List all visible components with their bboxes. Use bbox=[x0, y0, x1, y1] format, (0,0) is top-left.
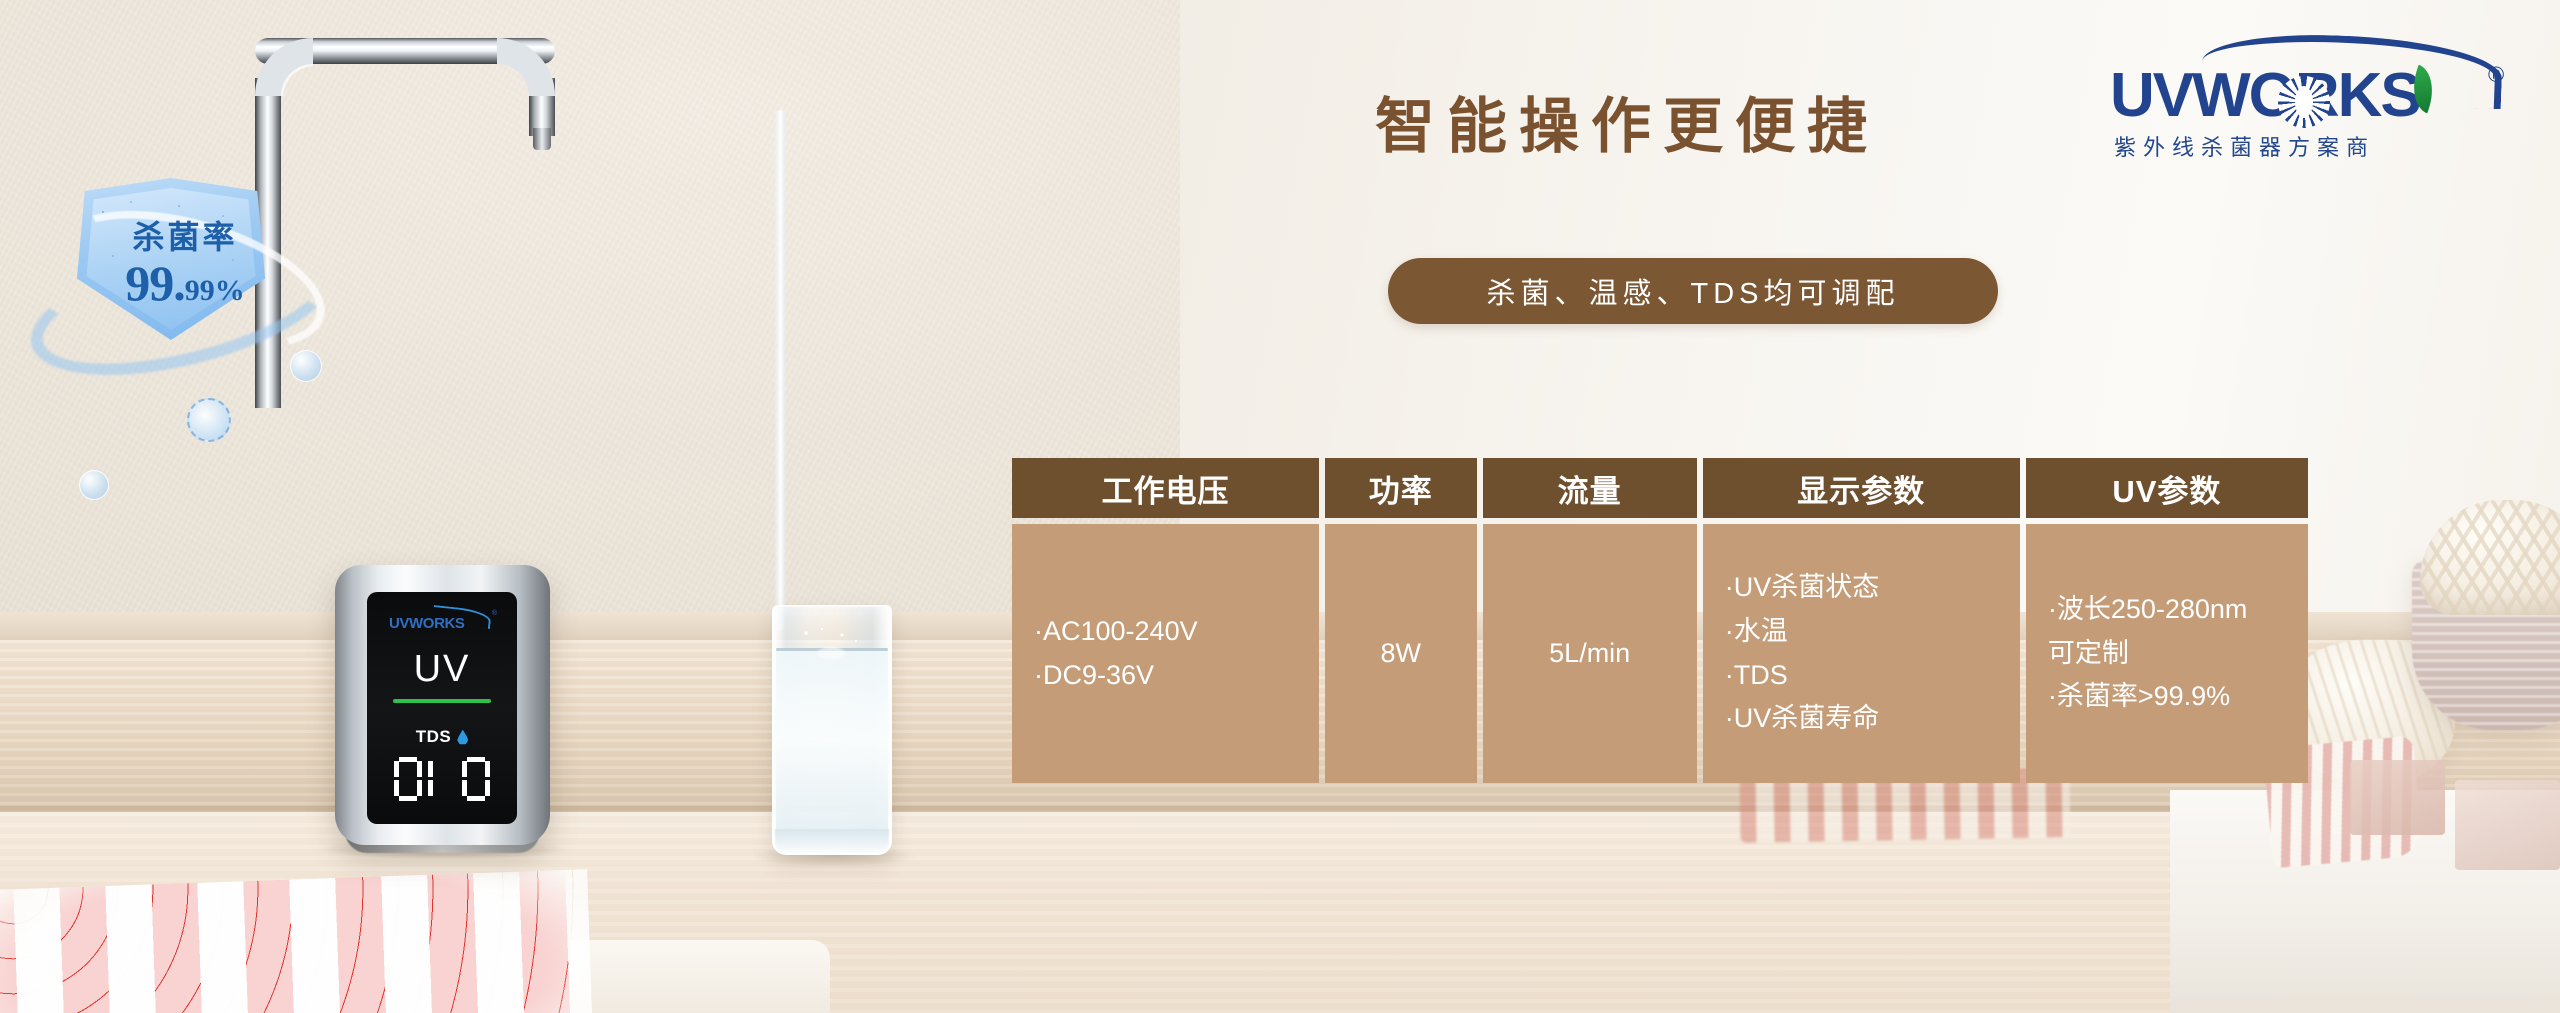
device-status-bar bbox=[393, 699, 491, 703]
registered-mark: ® bbox=[2488, 62, 2504, 88]
spec-line: ·AC100-240V bbox=[1034, 610, 1198, 654]
device-logo: UVWORKS ® bbox=[389, 610, 495, 632]
spec-header: UV参数 bbox=[2026, 458, 2308, 518]
spec-header: 显示参数 bbox=[1703, 458, 2020, 518]
badge-value-decimal: 99% bbox=[185, 274, 245, 307]
spec-header: 功率 bbox=[1325, 458, 1477, 518]
spec-cell: ·波长250-280nm 可定制 ·杀菌率>99.9% bbox=[2026, 524, 2308, 783]
spec-line: ·TDS bbox=[1725, 654, 1788, 698]
germ-icon bbox=[187, 398, 231, 442]
brand-tagline: 紫外线杀菌器方案商 bbox=[2114, 130, 2375, 162]
device-logo-registered: ® bbox=[492, 610, 497, 617]
spec-line: 8W bbox=[1381, 632, 1422, 676]
faucet-spout bbox=[533, 128, 551, 150]
seven-segment-digit bbox=[428, 757, 456, 801]
bubble-icon bbox=[290, 350, 322, 382]
spec-column-display: 显示参数 ·UV杀菌状态 ·水温 ·TDS ·UV杀菌寿命 bbox=[1703, 458, 2020, 783]
spec-column-uv: UV参数 ·波长250-280nm 可定制 ·杀菌率>99.9% bbox=[2026, 458, 2308, 783]
decor-block-2 bbox=[2455, 780, 2560, 870]
spec-table: 工作电压 ·AC100-240V ·DC9-36V 功率 8W 流量 5L/mi… bbox=[1012, 458, 2308, 783]
badge-title: 杀菌率 bbox=[35, 212, 335, 258]
bubble-icon bbox=[79, 470, 109, 500]
device-logo-text: UVWORKS bbox=[389, 615, 465, 632]
water-stream bbox=[774, 110, 787, 630]
spec-line: 5L/min bbox=[1549, 632, 1630, 676]
spec-cell: 5L/min bbox=[1483, 524, 1697, 783]
sterilization-rate-badge: 杀菌率 99.99% bbox=[35, 140, 335, 355]
device-tds-row: TDS bbox=[416, 727, 469, 747]
seven-segment-digit bbox=[394, 757, 422, 801]
uv-burst-icon bbox=[2278, 76, 2330, 128]
device-mode-label: UV bbox=[414, 648, 471, 691]
spec-line: 可定制 bbox=[2048, 632, 2129, 676]
uv-sterilizer-device: UVWORKS ® UV TDS bbox=[335, 565, 550, 845]
page-title: 智能操作更便捷 bbox=[1375, 78, 1879, 165]
water-splash bbox=[796, 627, 866, 663]
water-droplet-icon bbox=[457, 730, 468, 745]
spec-cell: ·UV杀菌状态 ·水温 ·TDS ·UV杀菌寿命 bbox=[1703, 524, 2020, 783]
feature-pill-label: 杀菌、温感、TDS均可调配 bbox=[1486, 270, 1899, 312]
device-tds-label: TDS bbox=[416, 727, 452, 747]
decor-block-1 bbox=[2350, 760, 2445, 835]
spec-column-power: 功率 8W bbox=[1325, 458, 1477, 783]
spec-line: ·UV杀菌状态 bbox=[1725, 566, 1880, 610]
spec-column-voltage: 工作电压 ·AC100-240V ·DC9-36V bbox=[1012, 458, 1319, 783]
spec-line: ·波长250-280nm bbox=[2048, 588, 2248, 632]
badge-value-main: 99. bbox=[125, 255, 185, 311]
logo-wordmark: UVWORKS bbox=[2110, 60, 2420, 131]
spec-line: ·杀菌率>99.9% bbox=[2048, 675, 2230, 719]
spec-column-flow: 流量 5L/min bbox=[1483, 458, 1697, 783]
device-screen: UVWORKS ® UV TDS bbox=[367, 592, 517, 824]
feature-pill: 杀菌、温感、TDS均可调配 bbox=[1388, 258, 1998, 324]
spec-cell: 8W bbox=[1325, 524, 1477, 783]
red-white-cloth bbox=[0, 869, 593, 1013]
device-tds-readout bbox=[394, 757, 490, 801]
seven-segment-digit bbox=[462, 757, 490, 801]
spec-header: 流量 bbox=[1483, 458, 1697, 518]
spec-header: 工作电压 bbox=[1012, 458, 1319, 518]
spec-line: ·UV杀菌寿命 bbox=[1725, 697, 1880, 741]
water-glass bbox=[772, 605, 892, 855]
spec-line: ·水温 bbox=[1725, 610, 1788, 654]
spec-line: ·DC9-36V bbox=[1034, 654, 1154, 698]
badge-value: 99.99% bbox=[35, 254, 335, 312]
spec-cell: ·AC100-240V ·DC9-36V bbox=[1012, 524, 1319, 783]
brand-logo: UVWORKS ® 紫外线杀菌器方案商 bbox=[2080, 32, 2520, 152]
